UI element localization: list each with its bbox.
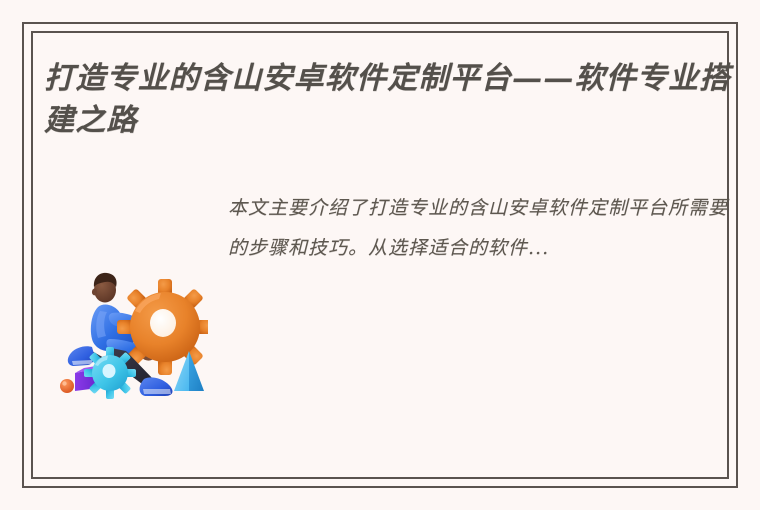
article-title: 打造专业的含山安卓软件定制平台——软件专业搭建之路 [44, 58, 744, 142]
small-cyan-gear [84, 347, 136, 399]
illustration-head [92, 273, 117, 303]
article-card: 打造专业的含山安卓软件定制平台——软件专业搭建之路 本文主要介绍了打造专业的含山… [0, 0, 760, 510]
article-summary: 本文主要介绍了打造专业的含山安卓软件定制平台所需要的步骤和技巧。从选择适合的软件… [228, 188, 728, 268]
orange-ball [60, 379, 74, 393]
person-carrying-gear-illustration [48, 255, 208, 400]
illustration-right-shoe [140, 377, 173, 396]
